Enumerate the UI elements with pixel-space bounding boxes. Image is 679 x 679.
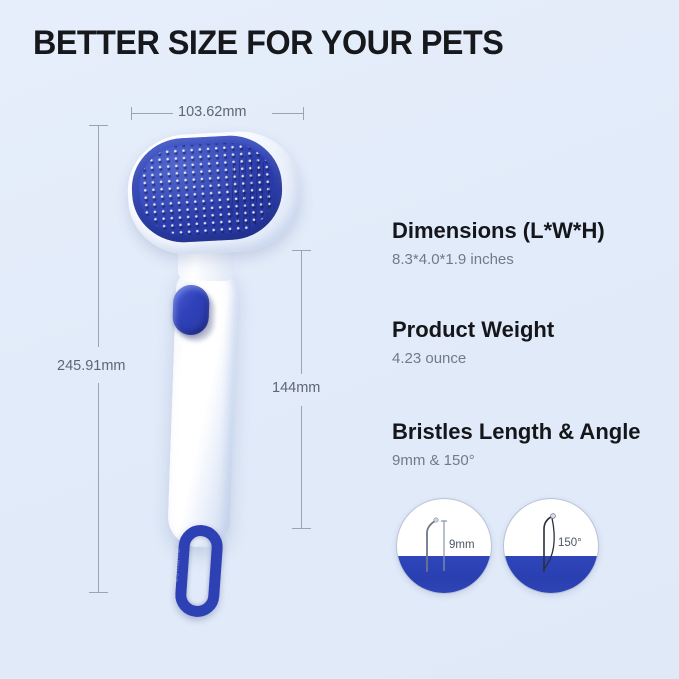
brush-head-pad — [129, 133, 284, 245]
bristle-angle-diagram: 150° — [503, 498, 599, 594]
dimension-width-line-right — [272, 113, 303, 114]
bristle-angle-label: 150° — [558, 537, 582, 549]
hanging-loop — [174, 524, 224, 619]
infographic-page: BETTER SIZE FOR YOUR PETS 103.62mm 245.9… — [0, 0, 679, 679]
bristle-angle-illustration — [504, 499, 599, 594]
bristle-length-diagram: 9mm — [396, 498, 492, 594]
dimension-height-line-top — [98, 125, 99, 347]
spec-bristles: Bristles Length & Angle 9mm & 150° — [392, 419, 641, 469]
spec-weight-value: 4.23 ounce — [392, 350, 554, 367]
spec-weight-title: Product Weight — [392, 317, 554, 343]
comb-lines — [227, 155, 271, 231]
page-title: BETTER SIZE FOR YOUR PETS — [33, 24, 503, 63]
spec-dimensions-title: Dimensions (L*W*H) — [392, 218, 605, 244]
dimension-height-cap-top — [89, 125, 108, 126]
dimension-height-label: 245.91mm — [57, 358, 126, 374]
dimension-width-label: 103.62mm — [178, 104, 247, 120]
bristle-length-label: 9mm — [449, 539, 475, 551]
spec-dimensions-value: 8.3*4.0*1.9 inches — [392, 251, 605, 268]
dimension-width-line-left — [131, 113, 173, 114]
spec-bristles-title: Bristles Length & Angle — [392, 419, 641, 445]
dimension-height-cap-bottom — [89, 592, 108, 593]
brush-pad-inner — [137, 141, 278, 238]
product-image: aumuca — [120, 125, 320, 605]
spec-dimensions: Dimensions (L*W*H) 8.3*4.0*1.9 inches — [392, 218, 605, 268]
spec-weight: Product Weight 4.23 ounce — [392, 317, 554, 367]
retract-button — [172, 284, 210, 335]
dimension-width-cap-right — [303, 107, 304, 120]
dimension-width-cap-left — [131, 107, 132, 120]
bristle-length-illustration — [397, 499, 492, 594]
dimension-height-line-bottom — [98, 383, 99, 592]
spec-bristles-value: 9mm & 150° — [392, 452, 641, 469]
